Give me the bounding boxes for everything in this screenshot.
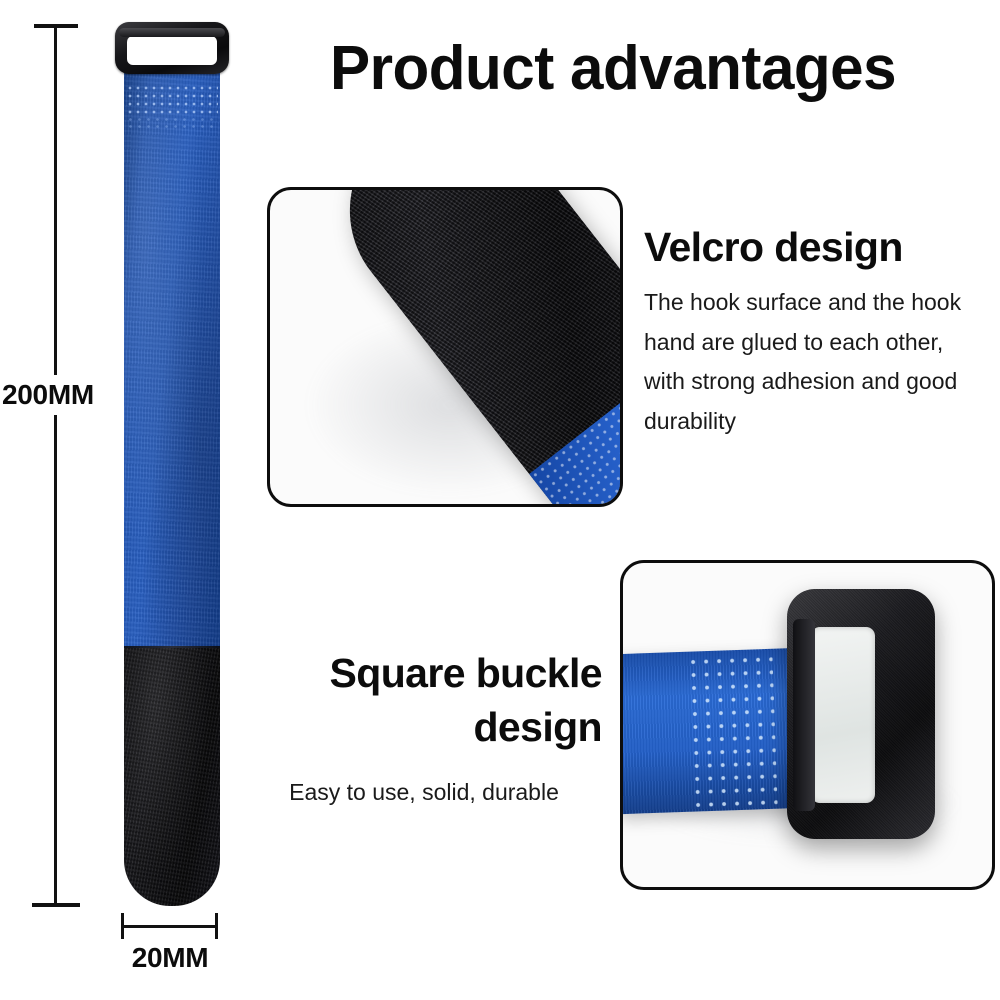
buckle-heading-line-1: Square buckle	[250, 646, 602, 700]
velcro-body-line-4: durability	[644, 402, 996, 442]
length-dimension-tick-bottom	[32, 903, 80, 907]
strap-blue-loop-section	[124, 70, 220, 648]
velcro-body-line-1: The hook surface and the hook	[644, 283, 996, 323]
velcro-feature-body: The hook surface and the hook hand are g…	[644, 283, 996, 441]
width-dimension-tick-right	[215, 913, 218, 939]
strap-black-hook-section	[124, 648, 220, 906]
buckle-photo-strap-dots	[686, 653, 777, 808]
width-dimension-label: 20MM	[110, 942, 230, 974]
width-dimension-line	[122, 925, 218, 928]
velcro-body-line-2: hand are glued to each other,	[644, 323, 996, 363]
buckle-photo-buckle-opening	[811, 627, 875, 803]
strap-buckle-opening	[127, 36, 217, 65]
velcro-strap-blue-end	[529, 352, 623, 507]
strap-hook-dots-band	[126, 84, 218, 116]
velcro-feature-text: Velcro design The hook surface and the h…	[644, 226, 996, 441]
strap-square-buckle	[115, 22, 229, 74]
strap-buckle-top-bar	[119, 28, 225, 37]
buckle-photo-buckle-bar	[793, 619, 815, 811]
infographic-canvas: Product advantages 200MM 20MM Velcro des	[0, 0, 1000, 1000]
velcro-body-line-3: with strong adhesion and good	[644, 362, 996, 402]
strap-hook-dots-band-secondary	[126, 116, 218, 130]
buckle-photo-panel	[620, 560, 995, 890]
product-strap-image	[124, 18, 220, 908]
buckle-feature-heading: Square buckle design	[250, 646, 602, 754]
length-dimension-line	[54, 25, 57, 907]
buckle-feature-subtitle: Easy to use, solid, durable	[250, 776, 598, 808]
buckle-heading-line-2: design	[250, 700, 602, 754]
velcro-feature-heading: Velcro design	[644, 226, 996, 269]
buckle-feature-text: Square buckle design Easy to use, solid,…	[250, 646, 602, 808]
length-dimension-label: 200MM	[2, 375, 126, 415]
page-title: Product advantages	[330, 38, 931, 100]
buckle-photo-square-buckle	[787, 589, 935, 839]
velcro-photo-panel	[267, 187, 623, 507]
